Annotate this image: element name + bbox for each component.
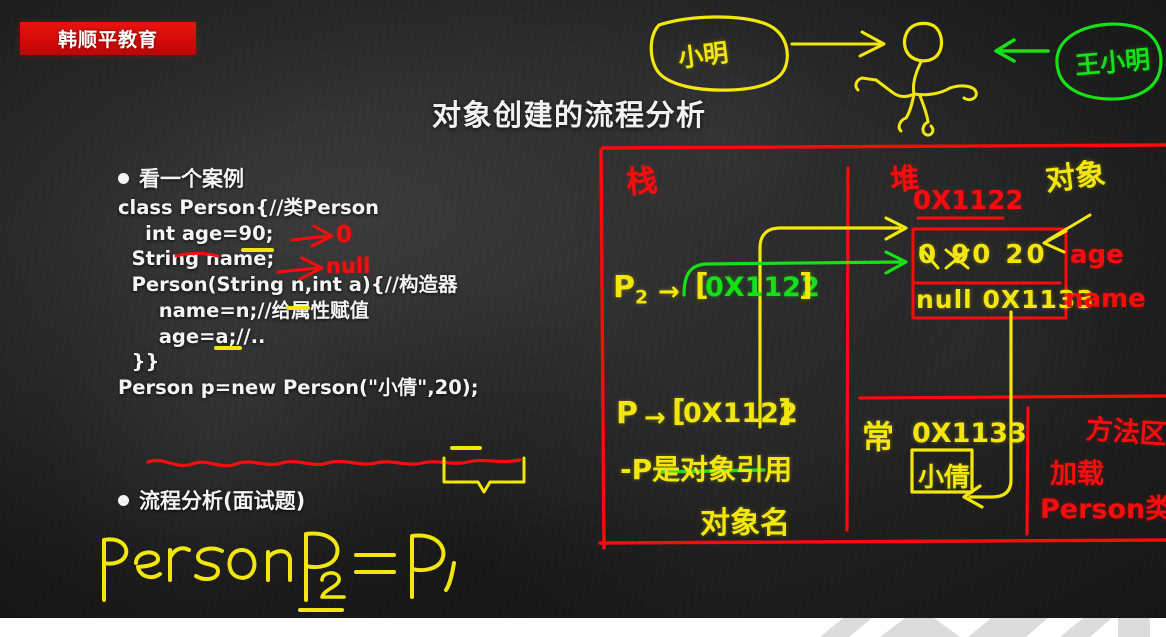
bullet-item-case: 看一个案例 <box>118 163 558 193</box>
sketch-label-xiaoming: 小明 <box>676 33 730 75</box>
code-line-6: age=a;//.. <box>118 324 558 350</box>
stack-bracket-close-p: ] <box>778 394 792 429</box>
bullet-item-flow: 流程分析(面试题) <box>118 485 305 515</box>
memory-label-constant-pool: 常 <box>862 412 894 458</box>
bottom-white-strip <box>0 618 1166 637</box>
slide-body-text: 看一个案例 class Person{//类Person int age=90;… <box>118 163 558 401</box>
memory-label-method-area: 方法区 <box>1085 407 1166 452</box>
code-line-8: Person p=new Person("小倩",20); <box>118 375 558 401</box>
bullet-label-case: 看一个案例 <box>139 163 244 193</box>
bullet-label-flow: 流程分析(面试题) <box>139 485 305 515</box>
heap-callout-object: 对象 <box>1043 149 1108 200</box>
stack-bracket-close-p2: ] <box>799 268 813 303</box>
heap-field-age-name: age <box>1070 240 1124 270</box>
heap-field-age-values: 0 90 20 <box>918 240 1048 270</box>
code-line-5: name=n;//给属性赋值 <box>118 298 558 324</box>
memory-label-stack: 栈 <box>624 155 659 203</box>
method-area-action: 加载 <box>1050 452 1104 491</box>
bottom-watermark <box>0 618 1166 637</box>
bullet-dot-icon <box>118 173 129 184</box>
stack-arrow-p: → <box>644 403 666 433</box>
brand-badge-label: 韩顺平教育 <box>58 25 158 52</box>
code-line-7: }} <box>118 349 558 375</box>
sketch-label-wangxiaoming: 王小明 <box>1074 40 1152 82</box>
stack-var-p: P <box>616 396 638 431</box>
stack-var-p2: P2 <box>613 270 648 309</box>
stack-note-objectname: 对象名 <box>700 498 790 542</box>
bullet-dot-icon-2 <box>118 495 129 506</box>
code-label-age-default: 0 <box>336 222 352 248</box>
stack-arrow-p2: → <box>658 277 680 307</box>
slide-screenshot: 韩顺平教育 对象创建的流程分析 看一个案例 class Person{//类Pe… <box>0 0 1166 637</box>
stack-note-reference: -P是对象引用 <box>620 448 792 488</box>
constant-pool-address: 0X1133 <box>912 418 1027 449</box>
brand-badge: 韩顺平教育 <box>20 22 196 55</box>
heap-field-name-name: name <box>1065 284 1146 314</box>
code-label-name-default: null <box>326 254 370 278</box>
code-line-1: class Person{//类Person <box>118 195 558 221</box>
method-area-target: Person类 <box>1040 487 1166 526</box>
heap-object-address: 0X1122 <box>913 186 1024 216</box>
constant-pool-value: 小倩 <box>918 457 970 494</box>
page-title: 对象创建的流程分析 <box>432 92 707 134</box>
